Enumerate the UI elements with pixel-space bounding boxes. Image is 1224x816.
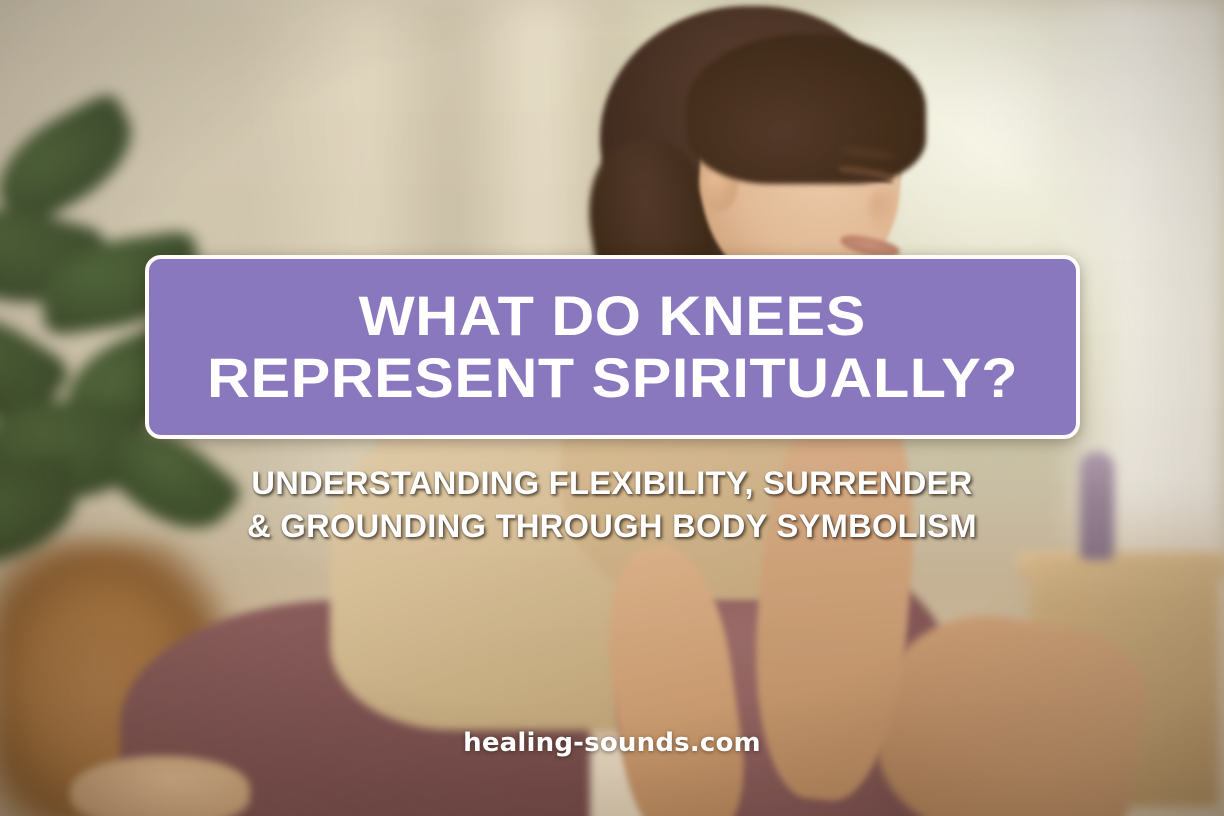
title-line-1: WHAT DO KNEES	[359, 286, 866, 346]
site-watermark: healing-sounds.com	[0, 728, 1224, 758]
subtitle-line-2: & GROUNDING THROUGH BODY SYMBOLISM	[0, 505, 1224, 548]
blog-hero-graphic: WHAT DO KNEES REPRESENT SPIRITUALLY? UND…	[0, 0, 1224, 816]
title-line-2: REPRESENT SPIRITUALLY?	[207, 348, 1018, 408]
subtitle-block: UNDERSTANDING FLEXIBILITY, SURRENDER & G…	[0, 462, 1224, 547]
title-card: WHAT DO KNEES REPRESENT SPIRITUALLY?	[145, 255, 1080, 439]
subtitle-line-1: UNDERSTANDING FLEXIBILITY, SURRENDER	[0, 462, 1224, 505]
text-overlay: WHAT DO KNEES REPRESENT SPIRITUALLY? UND…	[0, 0, 1224, 816]
